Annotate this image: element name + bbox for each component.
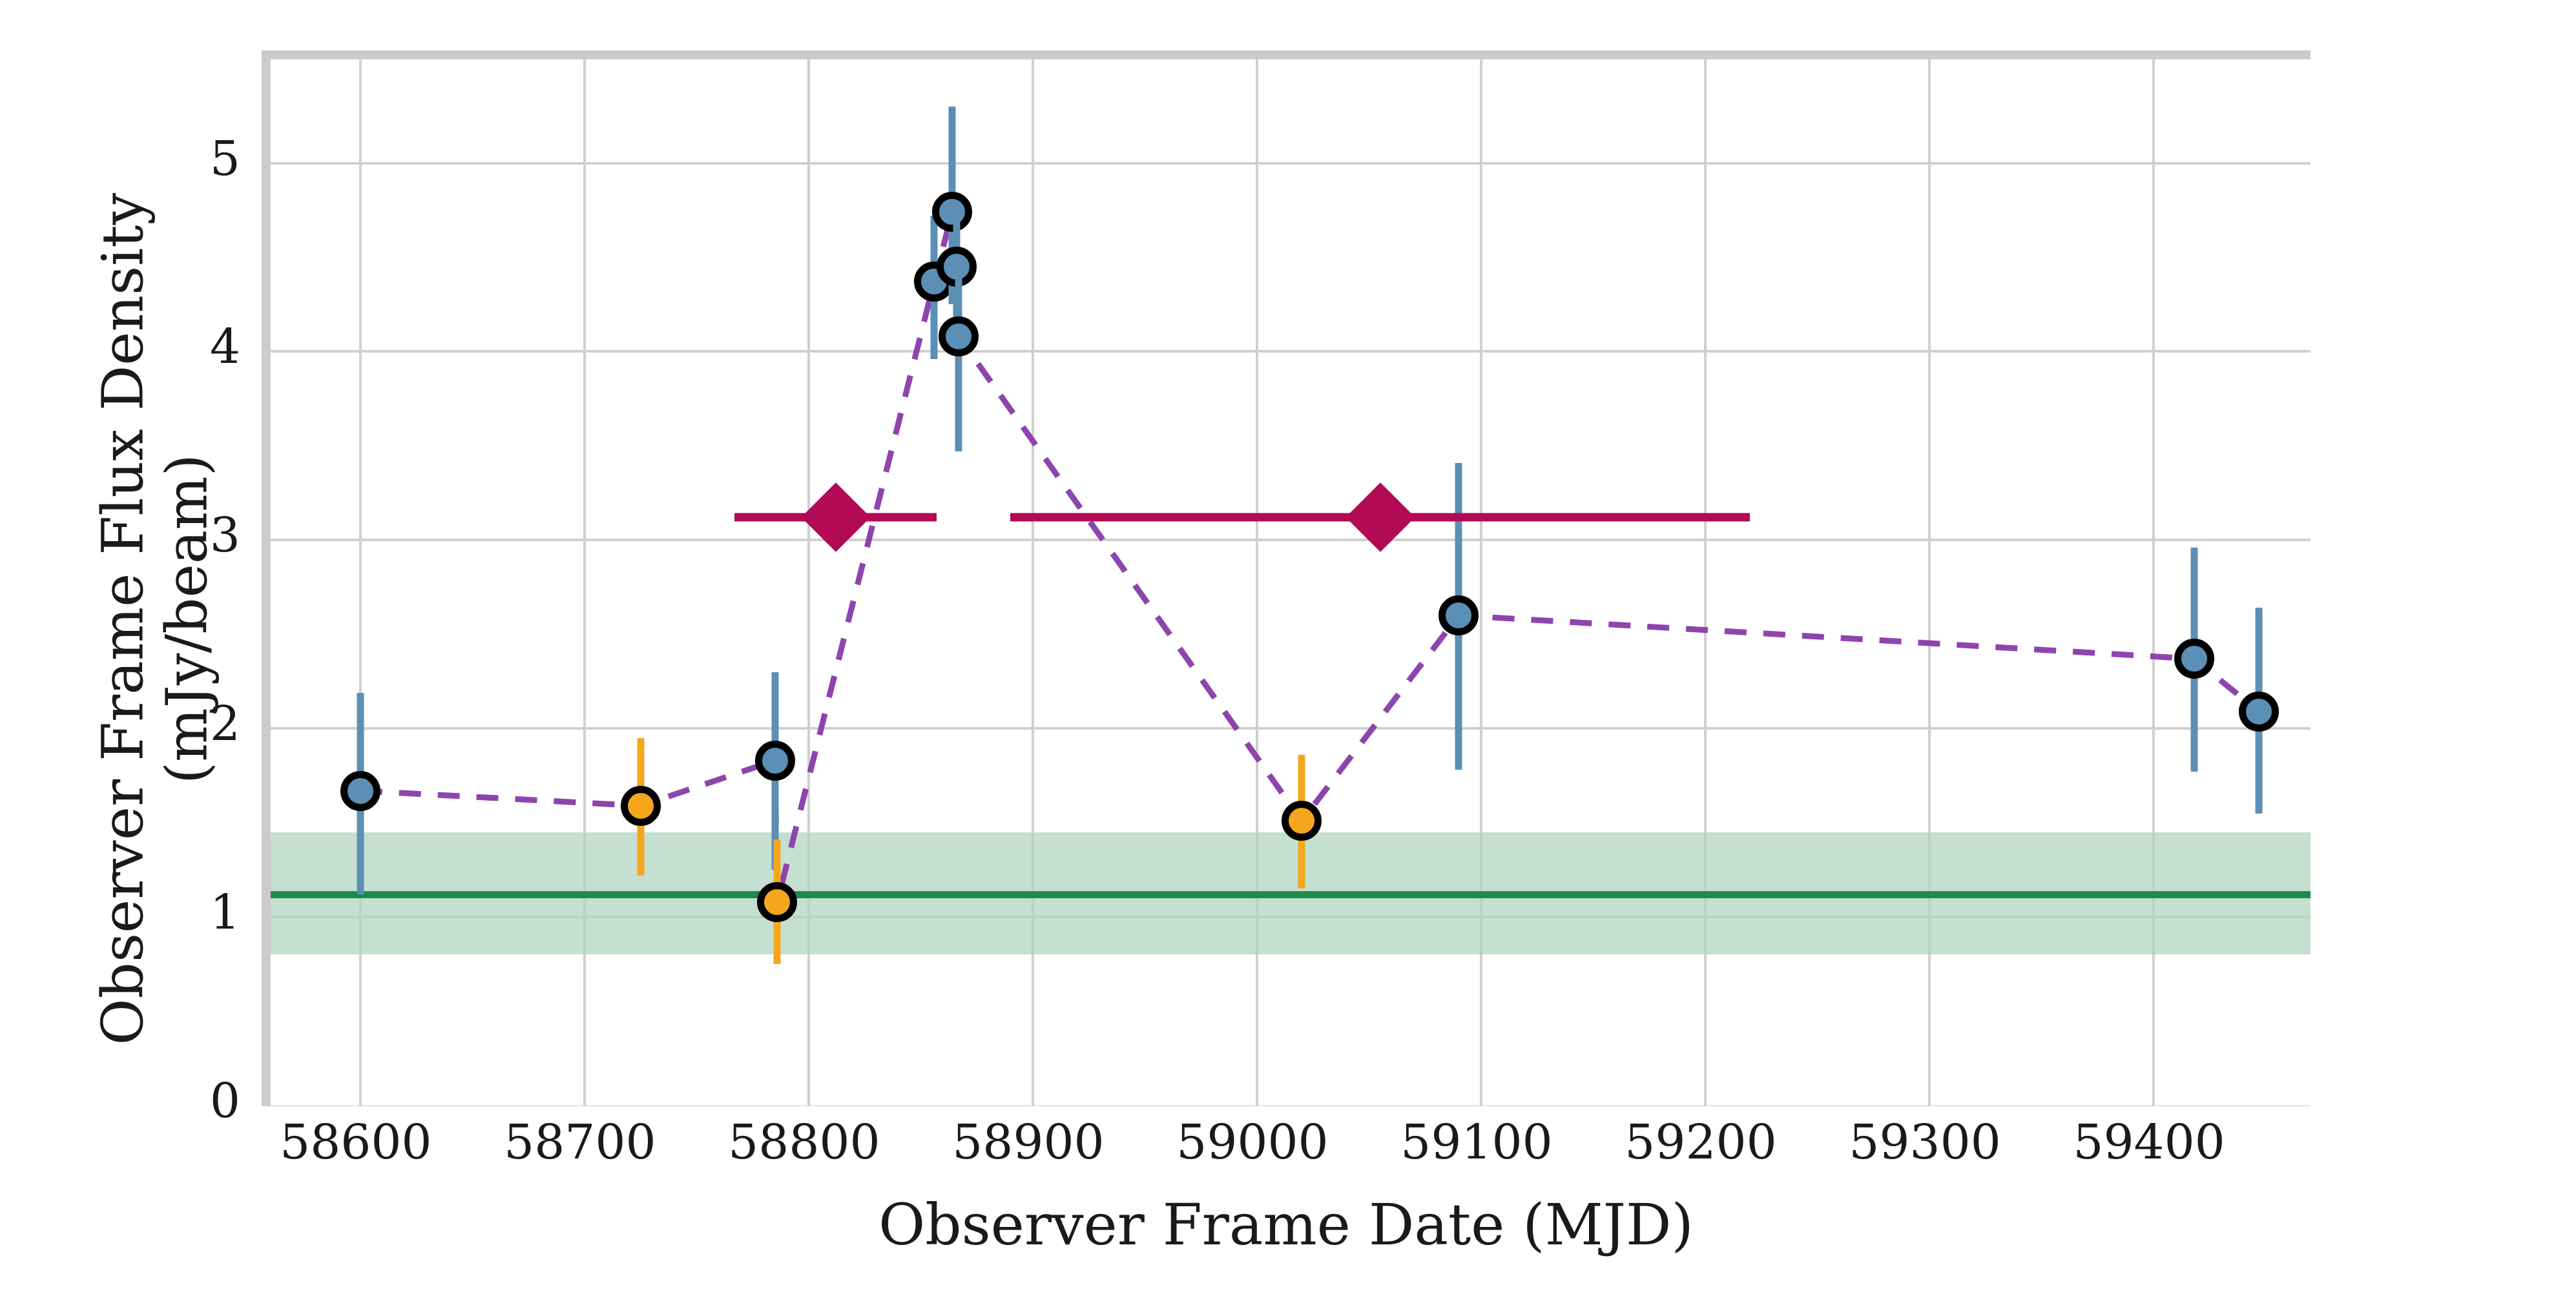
x-tick-label: 59300 (1849, 1115, 2000, 1170)
data-point-epoch-blue (340, 771, 380, 811)
y-tick-label: 2 (163, 696, 240, 752)
x-tick-label: 59200 (1625, 1115, 1776, 1170)
x-axis-title: Observer Frame Date (MJD) (266, 1191, 2306, 1258)
plot-inner (271, 59, 2311, 1106)
y-tick-label: 5 (163, 131, 240, 187)
data-point-epoch-blue (1439, 595, 1479, 635)
gridline-horizontal (271, 350, 2311, 353)
data-point-epoch-orange (621, 786, 661, 826)
data-point-stacked-crimson (1345, 483, 1415, 552)
figure-canvas: Observer Frame Flux Density (mJy/beam) O… (0, 0, 2576, 1307)
y-axis-title-line2: (mJy/beam) (155, 116, 219, 1123)
y-axis-title-line1: Observer Frame Flux Density (91, 116, 155, 1123)
x-tick-label: 59400 (2073, 1115, 2225, 1170)
y-tick-label: 4 (163, 319, 240, 375)
y-tick-label: 0 (163, 1073, 240, 1129)
x-tick-label: 58900 (952, 1115, 1104, 1170)
data-point-epoch-orange (757, 882, 797, 922)
y-tick-label: 3 (163, 508, 240, 563)
gridline-horizontal (271, 727, 2311, 730)
x-tick-label: 58600 (280, 1115, 431, 1170)
y-tick-label: 1 (163, 885, 240, 940)
data-point-epoch-blue (939, 316, 979, 356)
y-axis-title: Observer Frame Flux Density (mJy/beam) (91, 116, 218, 1123)
x-tick-label: 59100 (1400, 1115, 1552, 1170)
data-point-epoch-blue (2239, 692, 2279, 732)
data-point-epoch-blue (755, 741, 795, 781)
plot-area (266, 55, 2311, 1106)
gridline-horizontal (271, 162, 2311, 165)
data-point-stacked-crimson (801, 483, 870, 552)
data-point-epoch-blue (2174, 639, 2214, 679)
data-point-epoch-blue (932, 192, 972, 232)
gridline-horizontal (271, 539, 2311, 541)
reference-line (271, 891, 2311, 898)
x-tick-label: 58700 (504, 1115, 656, 1170)
x-tick-label: 59000 (1176, 1115, 1328, 1170)
data-point-epoch-orange (1282, 801, 1322, 841)
x-tick-label: 58800 (728, 1115, 880, 1170)
